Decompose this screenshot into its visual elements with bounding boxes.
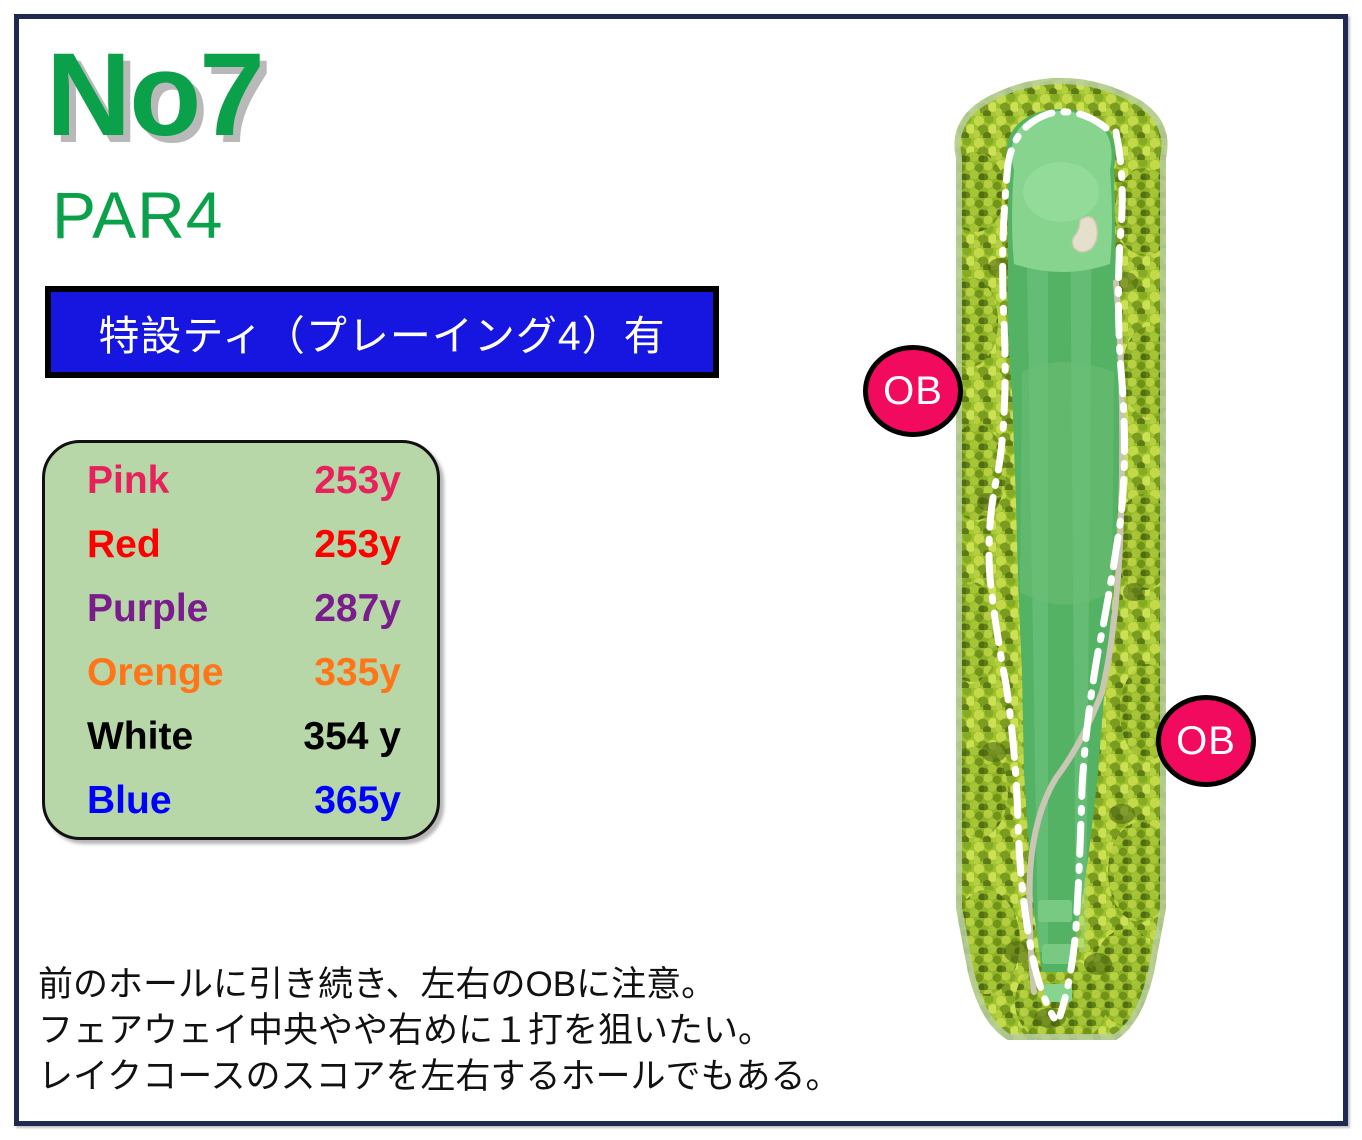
tee-distance-white: 354 y <box>297 717 401 756</box>
tee-distance-pink: 253y <box>297 461 401 500</box>
ob-marker-left: OB <box>863 345 963 437</box>
table-row: Pink 253y <box>45 461 437 525</box>
table-row: Purple 287y <box>45 589 437 653</box>
putting-green <box>1012 111 1112 272</box>
hole-info-card: No7 PAR4 特設ティ（プレーイング4）有 Pink 253y Red 25… <box>0 0 1362 1140</box>
hole-description: 前のホールに引き続き、左右のOBに注意。 フェアウェイ中央やや右めに１打を狙いた… <box>38 962 858 1101</box>
hole-description-line-3: レイクコースのスコアを左右するホールでもある。 <box>38 1054 858 1100</box>
tee-name-purple: Purple <box>87 589 297 628</box>
tee-distance-blue: 365y <box>297 781 401 820</box>
hole-description-line-2: フェアウェイ中央やや右めに１打を狙いたい。 <box>38 1008 858 1054</box>
tee-name-pink: Pink <box>87 461 297 500</box>
hole-description-line-1: 前のホールに引き続き、左右のOBに注意。 <box>38 962 858 1008</box>
table-row: White 354 y <box>45 717 437 781</box>
special-tee-banner-text: 特設ティ（プレーイング4）有 <box>98 302 665 362</box>
table-row: Blue 365y <box>45 781 437 845</box>
page-title: No7 <box>46 36 263 154</box>
tee-name-white: White <box>87 717 297 756</box>
tee-name-blue: Blue <box>87 781 297 820</box>
tee-distance-purple: 287y <box>297 589 401 628</box>
tee-name-orenge: Orenge <box>87 653 297 692</box>
tee-name-red: Red <box>87 525 297 564</box>
ob-marker-right: OB <box>1156 695 1256 787</box>
par-label: PAR4 <box>52 182 224 248</box>
table-row: Orenge 335y <box>45 653 437 717</box>
tee-distance-red: 253y <box>297 525 401 564</box>
tee-distance-orenge: 335y <box>297 653 401 692</box>
table-row: Red 253y <box>45 525 437 589</box>
tee-distance-table: Pink 253y Red 253y Purple 287y Orenge 33… <box>42 440 440 840</box>
course-map-svg <box>930 72 1192 1058</box>
course-map <box>930 72 1192 1058</box>
special-tee-banner: 特設ティ（プレーイング4）有 <box>45 286 719 378</box>
